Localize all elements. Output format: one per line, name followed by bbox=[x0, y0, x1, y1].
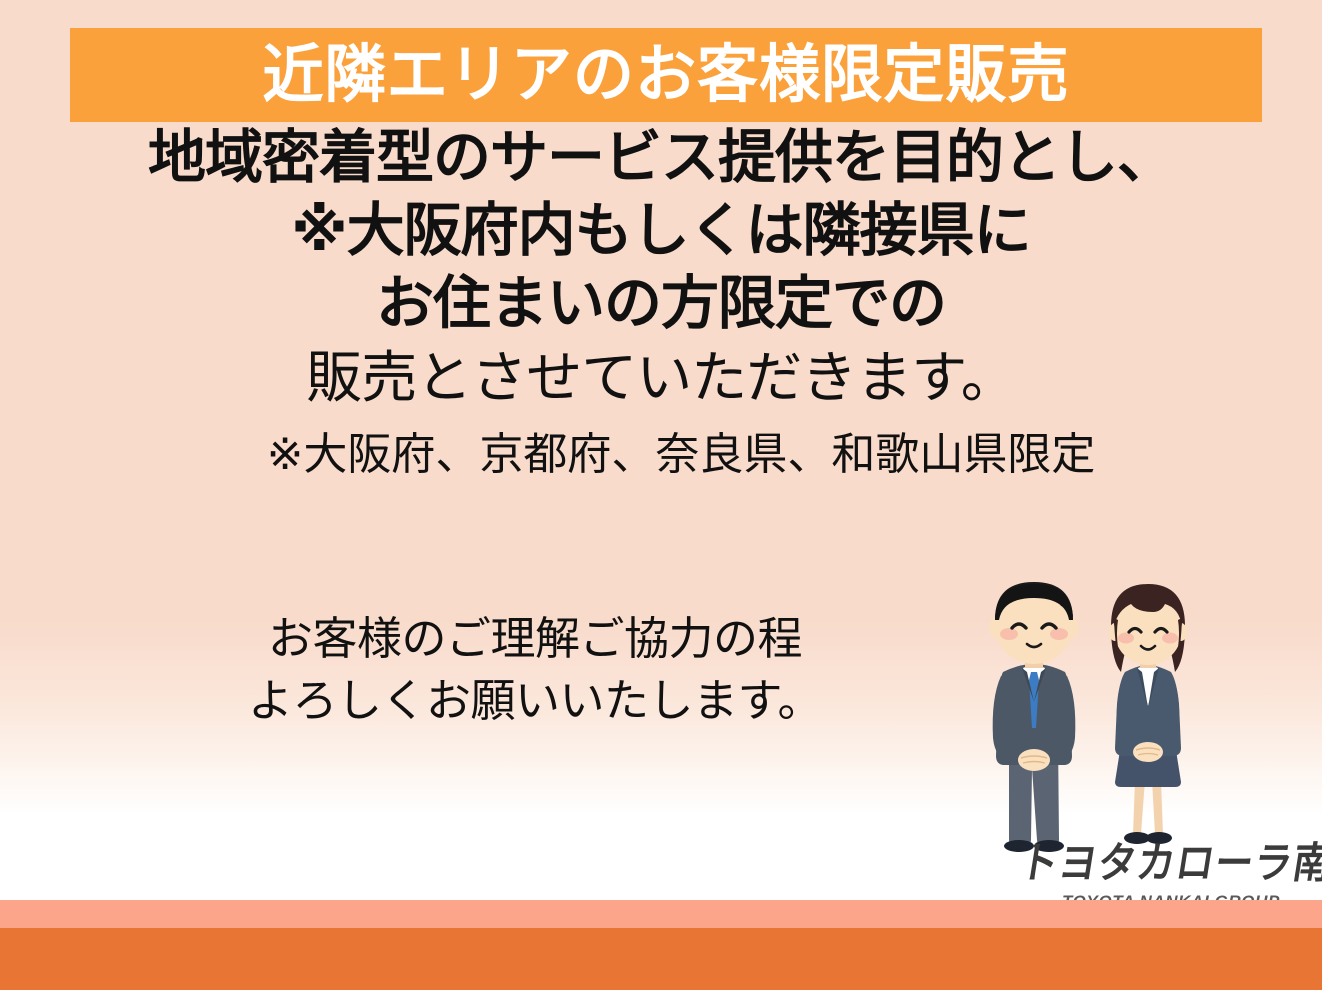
body-line-3: お住まいの方限定での bbox=[0, 272, 1322, 337]
footer-dark-bar bbox=[0, 928, 1322, 990]
bowing-man-figure bbox=[989, 582, 1079, 852]
footer-light-bar bbox=[0, 900, 1322, 928]
closing-line-1: お客様のご理解ご協力の程 bbox=[120, 608, 950, 670]
bowing-woman-figure bbox=[1109, 584, 1187, 844]
body-line-2: ※大阪府内もしくは隣接県に bbox=[0, 199, 1322, 264]
header-title: 近隣エリアのお客様限定販売 bbox=[262, 44, 1069, 107]
promotional-poster: 近隣エリアのお客様限定販売 地域密着型のサービス提供を目的とし、 ※大阪府内もし… bbox=[0, 0, 1322, 990]
bowing-people-illustration bbox=[965, 568, 1227, 858]
body-line-1: 地域密着型のサービス提供を目的とし、 bbox=[0, 126, 1322, 191]
main-copy-block: 地域密着型のサービス提供を目的とし、 ※大阪府内もしくは隣接県に お住まいの方限… bbox=[0, 126, 1322, 479]
header-banner: 近隣エリアのお客様限定販売 bbox=[70, 28, 1262, 122]
logo-japanese-text: トヨタカローラ南海 bbox=[1017, 843, 1314, 886]
body-line-4: 販売とさせていただきます。 bbox=[0, 347, 1322, 410]
closing-line-2: よろしくお願いいたします。 bbox=[120, 670, 950, 732]
closing-message: お客様のご理解ご協力の程 よろしくお願いいたします。 bbox=[120, 608, 950, 732]
prefecture-note: ※大阪府、京都府、奈良県、和歌山県限定 bbox=[0, 430, 1322, 479]
